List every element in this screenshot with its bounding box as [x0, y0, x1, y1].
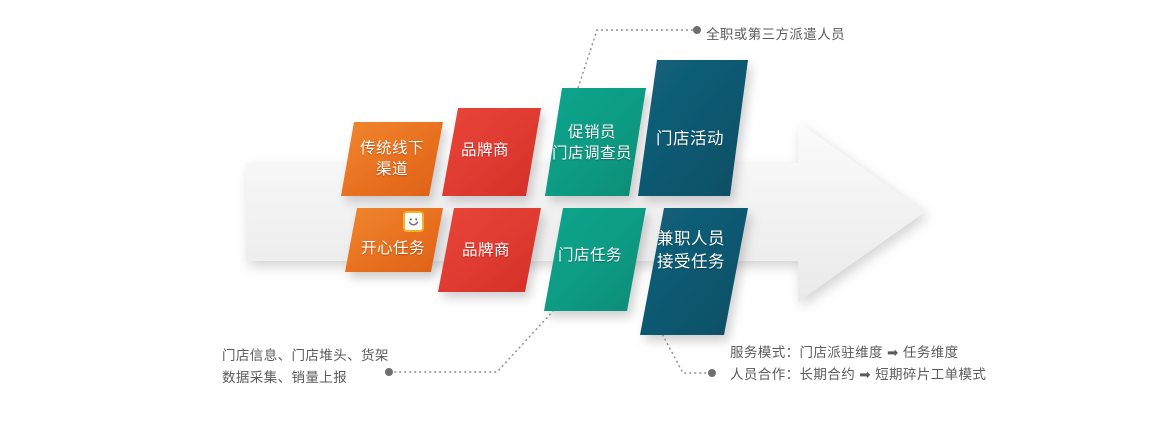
step-shape-kaixin-0[interactable] [345, 208, 443, 272]
step-shape-traditional-3[interactable] [638, 60, 748, 196]
annotation-line: 全职或第三方派遣人员 [706, 24, 845, 46]
connector-dot-bottom-right [708, 369, 716, 377]
connector-dot-top-right [693, 26, 701, 34]
connector-bottom-right [660, 330, 710, 373]
smiley-icon [403, 211, 424, 232]
step-shape-traditional-1[interactable] [442, 108, 541, 196]
annotation-bottom-left: 门店信息、门店堆头、货架 数据采集、销量上报 [222, 345, 389, 389]
annotation-top-right: 全职或第三方派遣人员 [706, 24, 845, 46]
step-shape-traditional-0[interactable] [341, 122, 443, 196]
annotation-line: 人员合作：长期合约 ➡ 短期碎片工单模式 [730, 364, 986, 386]
annotation-bottom-right: 服务模式：门店派驻维度 ➡ 任务维度 人员合作：长期合约 ➡ 短期碎片工单模式 [730, 342, 986, 386]
annotation-line: 数据采集、销量上报 [222, 367, 389, 389]
annotation-line: 门店信息、门店堆头、货架 [222, 345, 389, 367]
connector-bottom-left [391, 310, 554, 372]
diagram-canvas: 传统线下 渠道 品牌商 促销员 门店调查员 门店活动 开心任务 品牌商 门店任务… [0, 0, 1150, 430]
step-shape-traditional-2[interactable] [545, 88, 646, 196]
annotation-line: 服务模式：门店派驻维度 ➡ 任务维度 [730, 342, 986, 364]
step-shape-kaixin-1[interactable] [438, 208, 541, 292]
